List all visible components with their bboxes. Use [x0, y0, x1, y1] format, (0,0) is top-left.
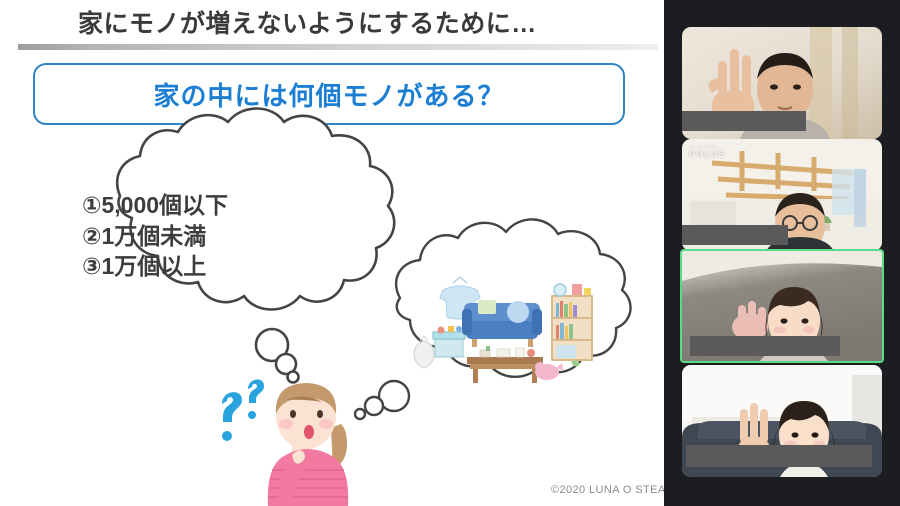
answer-option-1: ①5,000個以下 — [82, 190, 332, 221]
polus-watermark: POLUS HOME POLUS — [689, 145, 725, 159]
participant-tile-1[interactable] — [682, 27, 882, 139]
title-divider — [18, 44, 658, 50]
stuffed-toy-icon — [535, 362, 563, 380]
thought-cloud-options-tail — [256, 329, 299, 383]
ponytail — [331, 424, 347, 470]
hair — [276, 383, 336, 414]
answer-option-3: ③1万個以上 — [82, 251, 332, 282]
sofa-icon — [462, 300, 542, 347]
participant-video-rail: POLUS HOME POLUS — [664, 0, 900, 506]
participant-name-redaction-1 — [682, 111, 806, 131]
low-table-icon — [467, 346, 543, 383]
participant-tile-2[interactable]: POLUS HOME POLUS — [682, 139, 882, 251]
thinking-woman — [268, 383, 348, 506]
answer-option-2: ②1万個未満 — [82, 221, 332, 252]
hanging-shirt-icon — [440, 277, 480, 319]
participant-tile-3[interactable] — [682, 251, 882, 361]
thought-cloud-room — [396, 219, 630, 376]
slide-area: 家にモノが増えないようにするために… 家の中には何個モノがある？ — [0, 0, 664, 506]
room-scene — [414, 277, 592, 383]
bookshelf-icon — [552, 284, 592, 360]
copyright-notice: ©2020 LUNA O STEA — [551, 484, 664, 496]
page-title: 家にモノが増えないようにするために… — [78, 4, 537, 40]
shirt — [268, 449, 348, 506]
question-callout-text: 家の中には何個モノがある？ — [153, 76, 504, 113]
participant-name-redaction-2 — [682, 225, 788, 245]
presentation-screen-share: 家にモノが増えないようにするために… 家の中には何個モノがある？ — [0, 0, 900, 506]
question-mark-icons — [222, 380, 264, 441]
hand — [292, 450, 305, 463]
small-plant-icon — [571, 360, 580, 366]
trash-bag-icon — [414, 336, 434, 368]
participant-name-redaction-4 — [686, 445, 872, 467]
answer-options-list: ①5,000個以下 ②1万個未満 ③1万個以上 — [82, 190, 332, 282]
question-callout-box: 家の中には何個モノがある？ — [33, 63, 625, 125]
toy-box-icon — [433, 326, 465, 357]
thought-cloud-room-tail — [355, 381, 409, 419]
participant-name-redaction-3 — [690, 336, 840, 356]
participant-tile-4[interactable] — [682, 365, 882, 477]
face — [276, 383, 336, 449]
